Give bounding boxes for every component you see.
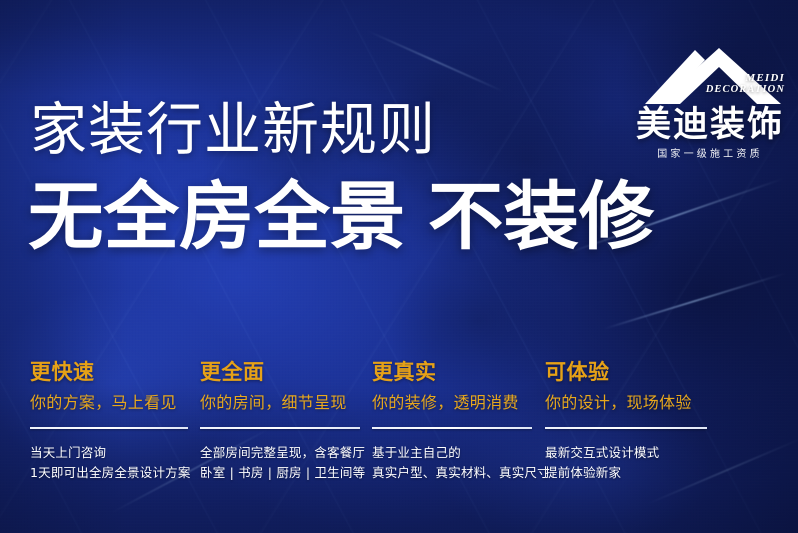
feature-body-line-4-2: 提前体验新家 <box>545 463 707 483</box>
feature-column-3: 更真实 你的装修，透明消费 基于业主自己的 真实户型、真实材料、真实尺寸 <box>372 362 532 484</box>
feature-subtitle-3: 你的装修，透明消费 <box>372 395 532 411</box>
feature-title-2: 更全面 <box>200 362 360 383</box>
promo-poster: 家装行业新规则 无全房全景不装修 MEIDI DECORATION 美迪装饰 国… <box>0 0 798 533</box>
feature-column-1: 更快速 你的方案，马上看见 当天上门咨询 1天即可出全房全景设计方案 <box>30 362 188 484</box>
feature-subtitle-1: 你的方案，马上看见 <box>30 395 188 411</box>
feature-subtitle-4: 你的设计，现场体验 <box>545 395 707 411</box>
feature-title-3: 更真实 <box>372 362 532 383</box>
logo-english-line1: MEIDI <box>665 72 785 84</box>
brand-logo: MEIDI DECORATION 美迪装饰 国家一级施工资质 <box>633 44 787 172</box>
feature-body-line-3-1: 基于业主自己的 <box>372 443 532 463</box>
feature-divider-2 <box>200 427 360 429</box>
feature-body-line-2-1: 全部房间完整呈现，含客餐厅 <box>200 443 360 463</box>
poster-content: 家装行业新规则 无全房全景不装修 MEIDI DECORATION 美迪装饰 国… <box>0 0 798 533</box>
feature-body-line-1-1: 当天上门咨询 <box>30 443 188 463</box>
feature-body-line-1-2: 1天即可出全房全景设计方案 <box>30 463 188 483</box>
feature-body-line-3-2: 真实户型、真实材料、真实尺寸 <box>372 463 532 483</box>
feature-body-4: 最新交互式设计模式 提前体验新家 <box>545 443 707 484</box>
feature-subtitle-2: 你的房间，细节呈现 <box>200 395 360 411</box>
feature-column-4: 可体验 你的设计，现场体验 最新交互式设计模式 提前体验新家 <box>545 362 707 484</box>
logo-qualification-text: 国家一级施工资质 <box>633 150 787 160</box>
feature-divider-1 <box>30 427 188 429</box>
feature-title-4: 可体验 <box>545 362 707 383</box>
feature-body-1: 当天上门咨询 1天即可出全房全景设计方案 <box>30 443 188 484</box>
logo-english-line2: DECORATION <box>665 84 785 96</box>
headline-main: 无全房全景不装修 <box>28 180 654 254</box>
feature-column-2: 更全面 你的房间，细节呈现 全部房间完整呈现，含客餐厅 卧室 | 书房 | 厨房… <box>200 362 360 484</box>
feature-body-line-2-2: 卧室 | 书房 | 厨房 | 卫生间等 <box>200 463 360 483</box>
feature-body-2: 全部房间完整呈现，含客餐厅 卧室 | 书房 | 厨房 | 卫生间等 <box>200 443 360 484</box>
headline-tagline: 家装行业新规则 <box>30 102 436 159</box>
feature-body-3: 基于业主自己的 真实户型、真实材料、真实尺寸 <box>372 443 532 484</box>
feature-body-line-4-1: 最新交互式设计模式 <box>545 443 707 463</box>
logo-english-text: MEIDI DECORATION <box>665 72 785 96</box>
headline-main-part1: 无全房全景 <box>28 174 405 260</box>
headline-main-part2: 不装修 <box>428 174 654 260</box>
feature-divider-4 <box>545 427 707 429</box>
feature-title-1: 更快速 <box>30 362 188 383</box>
logo-chinese-name: 美迪装饰 <box>633 108 787 143</box>
feature-divider-3 <box>372 427 532 429</box>
feature-columns: 更快速 你的方案，马上看见 当天上门咨询 1天即可出全房全景设计方案 更全面 你… <box>0 362 798 502</box>
